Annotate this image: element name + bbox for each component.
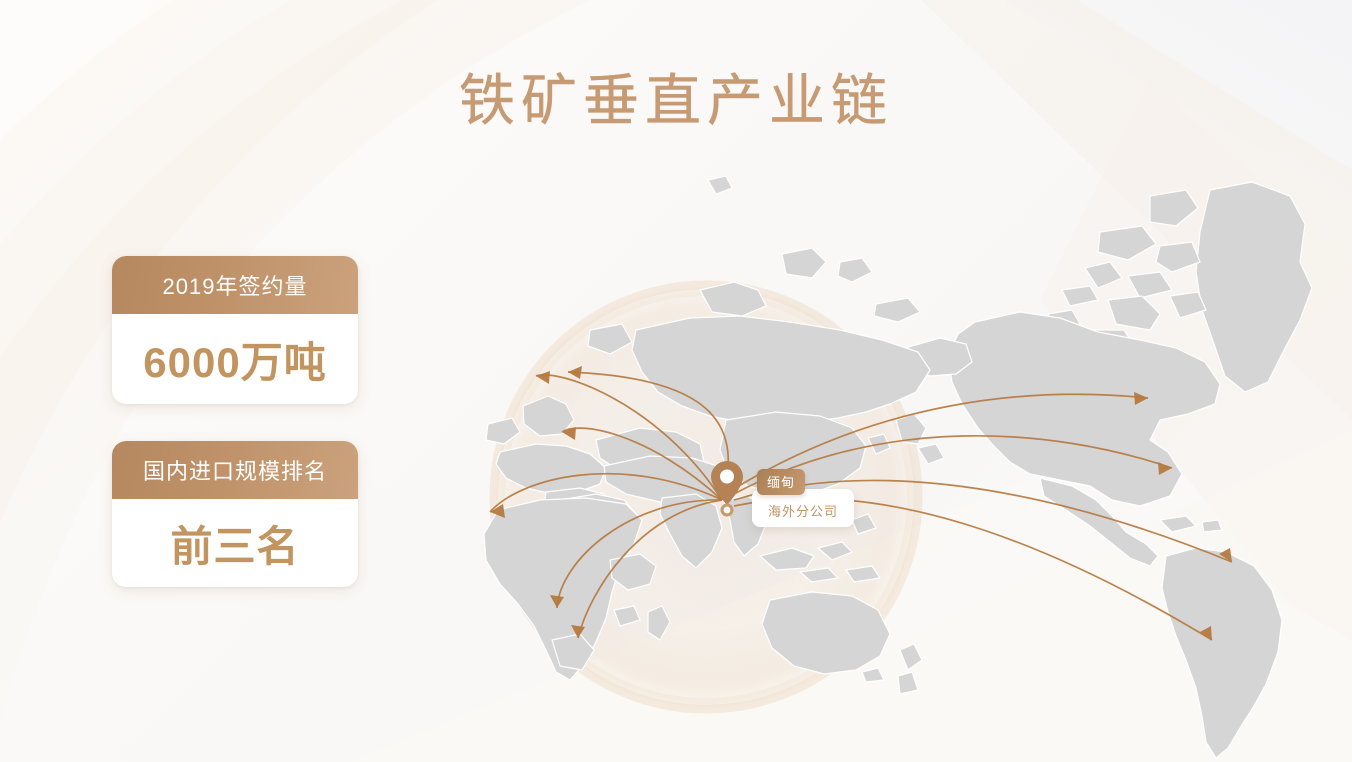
stat-card-signed-volume-value: 6000万吨 xyxy=(112,314,358,404)
map-pin-icon[interactable] xyxy=(707,459,747,517)
stat-card-import-ranking-header: 国内进口规模排名 xyxy=(112,441,358,499)
map-marker-country-badge[interactable]: 缅甸 xyxy=(757,469,805,495)
stat-card-signed-volume-header: 2019年签约量 xyxy=(112,256,358,314)
stat-card-import-ranking: 国内进口规模排名 前三名 xyxy=(112,441,358,587)
map-landmasses xyxy=(484,176,1312,758)
stat-card-signed-volume: 2019年签约量 6000万吨 xyxy=(112,256,358,404)
slide-canvas: 铁矿垂直产业链 xyxy=(0,0,1352,762)
map-marker-role-label: 海外分公司 xyxy=(768,501,838,520)
stat-card-import-ranking-value: 前三名 xyxy=(112,499,358,587)
